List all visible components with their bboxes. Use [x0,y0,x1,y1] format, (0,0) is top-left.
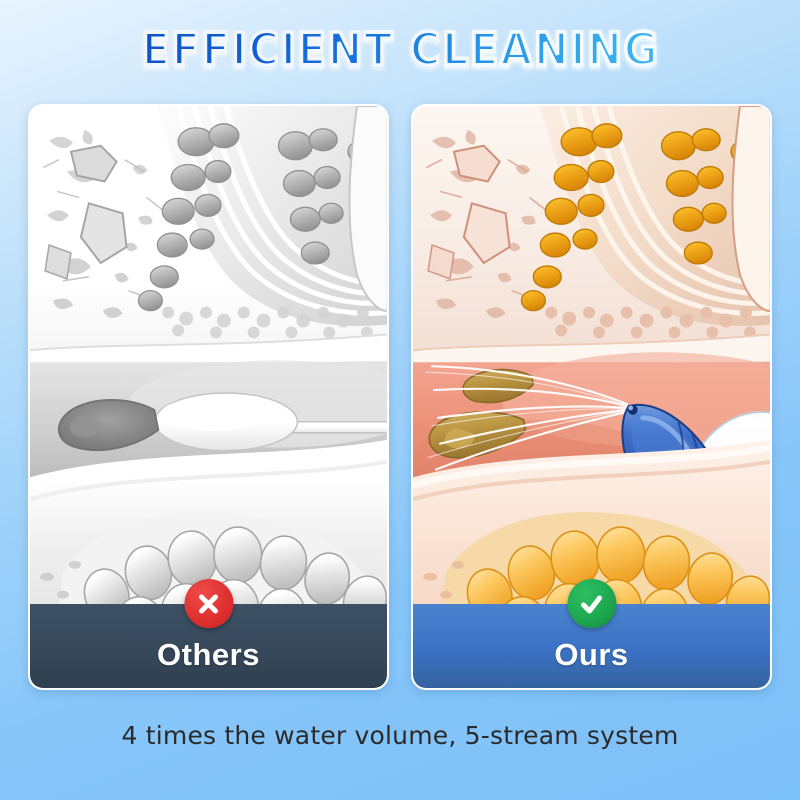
footer-caption: 4 times the water volume, 5-stream syste… [0,720,800,752]
page-title-text: EFFICIENT CLEANING [141,22,659,78]
panel-label-ours: Ours [554,638,628,672]
page-title: EFFICIENT CLEANING [0,22,800,84]
comparison-panel-ours[interactable]: Ours [411,104,772,690]
comparison-panels: Others [28,104,772,690]
product-comparison-page: EFFICIENT CLEANING [0,0,800,800]
status-badge-check [567,579,616,628]
status-badge-cross [184,579,233,628]
check-icon [578,590,606,618]
panel-label-others: Others [157,638,260,672]
comparison-panel-others[interactable]: Others [28,104,389,690]
cross-icon [196,591,222,617]
